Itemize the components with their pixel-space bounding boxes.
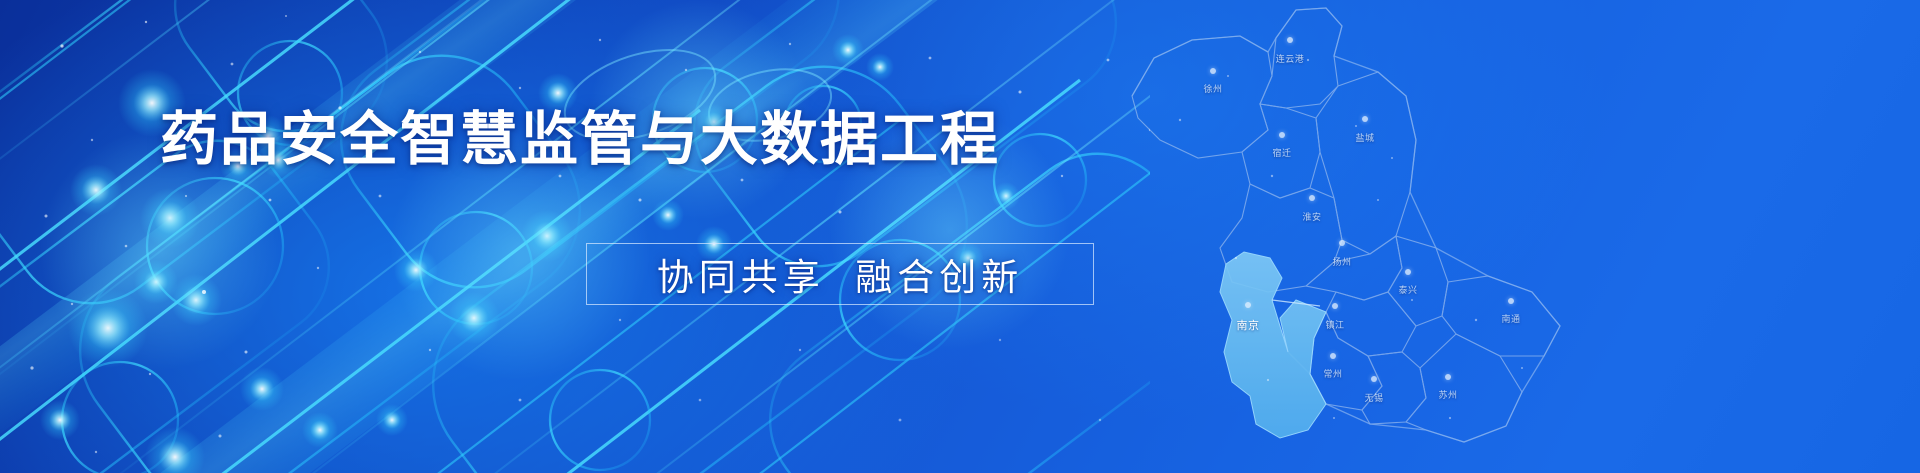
city-label: 徐州 [1203,82,1222,95]
city-dot [1362,116,1368,122]
city-label: 南京 [1237,317,1260,333]
jiangsu-province-map: 连云港徐州盐城宿迁淮安扬州泰兴南通南京镇江常州无锡苏州 [1120,0,1680,473]
city-dot [1210,68,1216,74]
city-dot [1330,353,1336,359]
city-label: 南通 [1501,312,1520,325]
city-dot [1508,298,1514,304]
city-label: 泰兴 [1398,283,1417,296]
city-dot [1371,376,1377,382]
nanjing-highlight-region [1220,252,1326,438]
city-label: 无锡 [1364,391,1383,404]
city-dot [1445,374,1451,380]
city-label: 常州 [1323,367,1342,380]
city-dot [1309,195,1315,201]
city-label: 镇江 [1325,318,1344,331]
soft-glow-blooms [40,0,1070,380]
map-outline-svg [1120,0,1680,473]
city-label: 淮安 [1302,210,1321,223]
banner-root: 连云港徐州盐城宿迁淮安扬州泰兴南通南京镇江常州无锡苏州 药品安全智慧监管与大数据… [0,0,1920,473]
city-label: 宿迁 [1272,146,1291,159]
city-dot [1339,240,1345,246]
city-dot [1287,37,1293,43]
city-label: 盐城 [1355,131,1374,144]
city-label: 苏州 [1438,388,1457,401]
city-label: 扬州 [1332,255,1351,268]
city-dot [1245,302,1251,308]
city-dot [1405,269,1411,275]
city-dot [1279,132,1285,138]
city-dot [1332,303,1338,309]
prefecture-borders [1132,8,1560,442]
city-label: 连云港 [1276,52,1305,65]
